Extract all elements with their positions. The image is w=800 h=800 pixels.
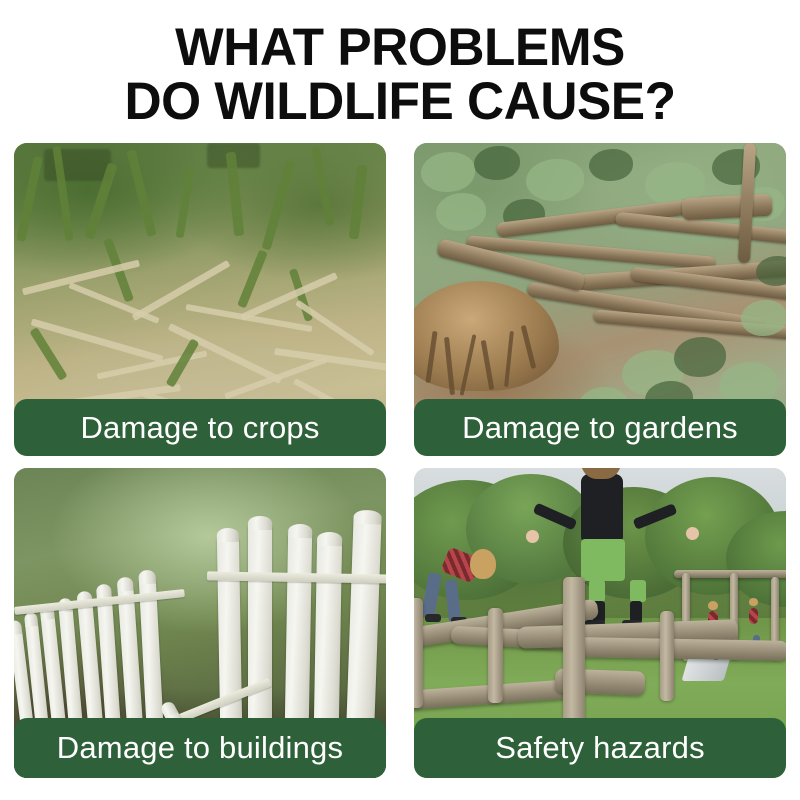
card-caption-crops: Damage to crops [14, 399, 386, 456]
problem-card-grid: Damage to crops [14, 143, 786, 778]
infographic-page: WHAT PROBLEMS DO WILDLIFE CAUSE? [0, 0, 800, 800]
problem-card-buildings[interactable]: Damage to buildings [14, 468, 386, 778]
card-caption-safety: Safety hazards [414, 718, 786, 778]
card-caption-gardens: Damage to gardens [414, 399, 786, 456]
page-title: WHAT PROBLEMS DO WILDLIFE CAUSE? [0, 22, 800, 128]
problem-card-safety[interactable]: Safety hazards [414, 468, 786, 778]
problem-card-gardens[interactable]: Damage to gardens [414, 143, 786, 456]
title-line-1: WHAT PROBLEMS [12, 22, 788, 74]
problem-card-crops[interactable]: Damage to crops [14, 143, 386, 456]
card-caption-buildings: Damage to buildings [14, 718, 386, 778]
title-line-2: DO WILDLIFE CAUSE? [12, 76, 788, 128]
